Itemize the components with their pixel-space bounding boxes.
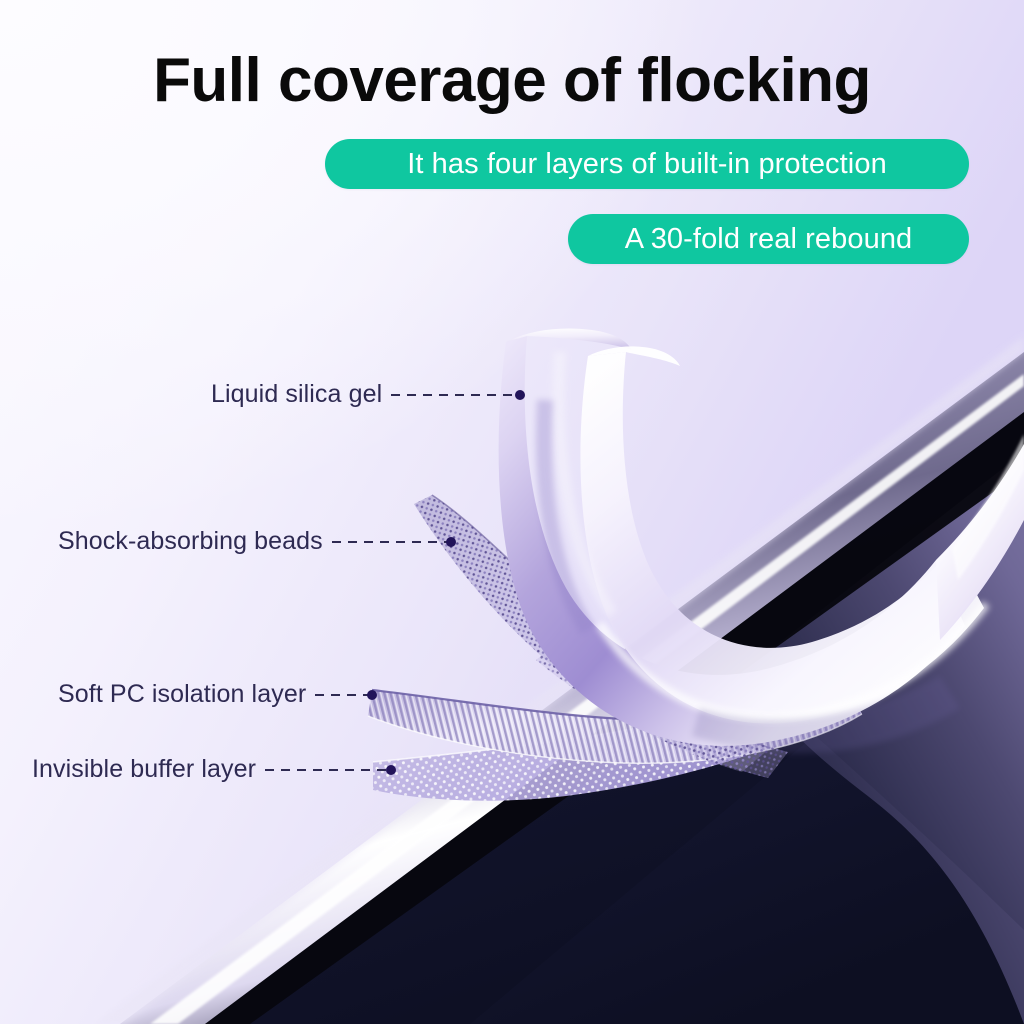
leader-line-invisible-buffer-layer	[265, 769, 392, 771]
badge-rebound-label: A 30-fold real rebound	[625, 223, 913, 256]
callout-shock-absorbing-beads-label: Shock-absorbing beads	[58, 527, 323, 556]
infographic-canvas: Full coverage of flocking It has four la…	[0, 0, 1024, 1024]
leader-line-shock-absorbing-beads	[332, 541, 452, 543]
callout-liquid-silica-gel-label: Liquid silica gel	[211, 380, 382, 409]
callout-invisible-buffer-layer-label: Invisible buffer layer	[32, 755, 256, 784]
callout-soft-pc-isolation-layer: Soft PC isolation layer	[58, 680, 373, 709]
callout-liquid-silica-gel: Liquid silica gel	[211, 380, 521, 409]
leader-line-soft-pc-isolation-layer	[315, 694, 373, 696]
badge-rebound: A 30-fold real rebound	[568, 214, 969, 264]
callout-invisible-buffer-layer: Invisible buffer layer	[32, 755, 392, 784]
badge-four-layers: It has four layers of built-in protectio…	[325, 139, 969, 189]
badge-four-layers-label: It has four layers of built-in protectio…	[407, 148, 887, 181]
callout-shock-absorbing-beads: Shock-absorbing beads	[58, 527, 452, 556]
leader-line-liquid-silica-gel	[391, 394, 521, 396]
page-title: Full coverage of flocking	[0, 48, 1024, 113]
callout-soft-pc-isolation-layer-label: Soft PC isolation layer	[58, 680, 306, 709]
